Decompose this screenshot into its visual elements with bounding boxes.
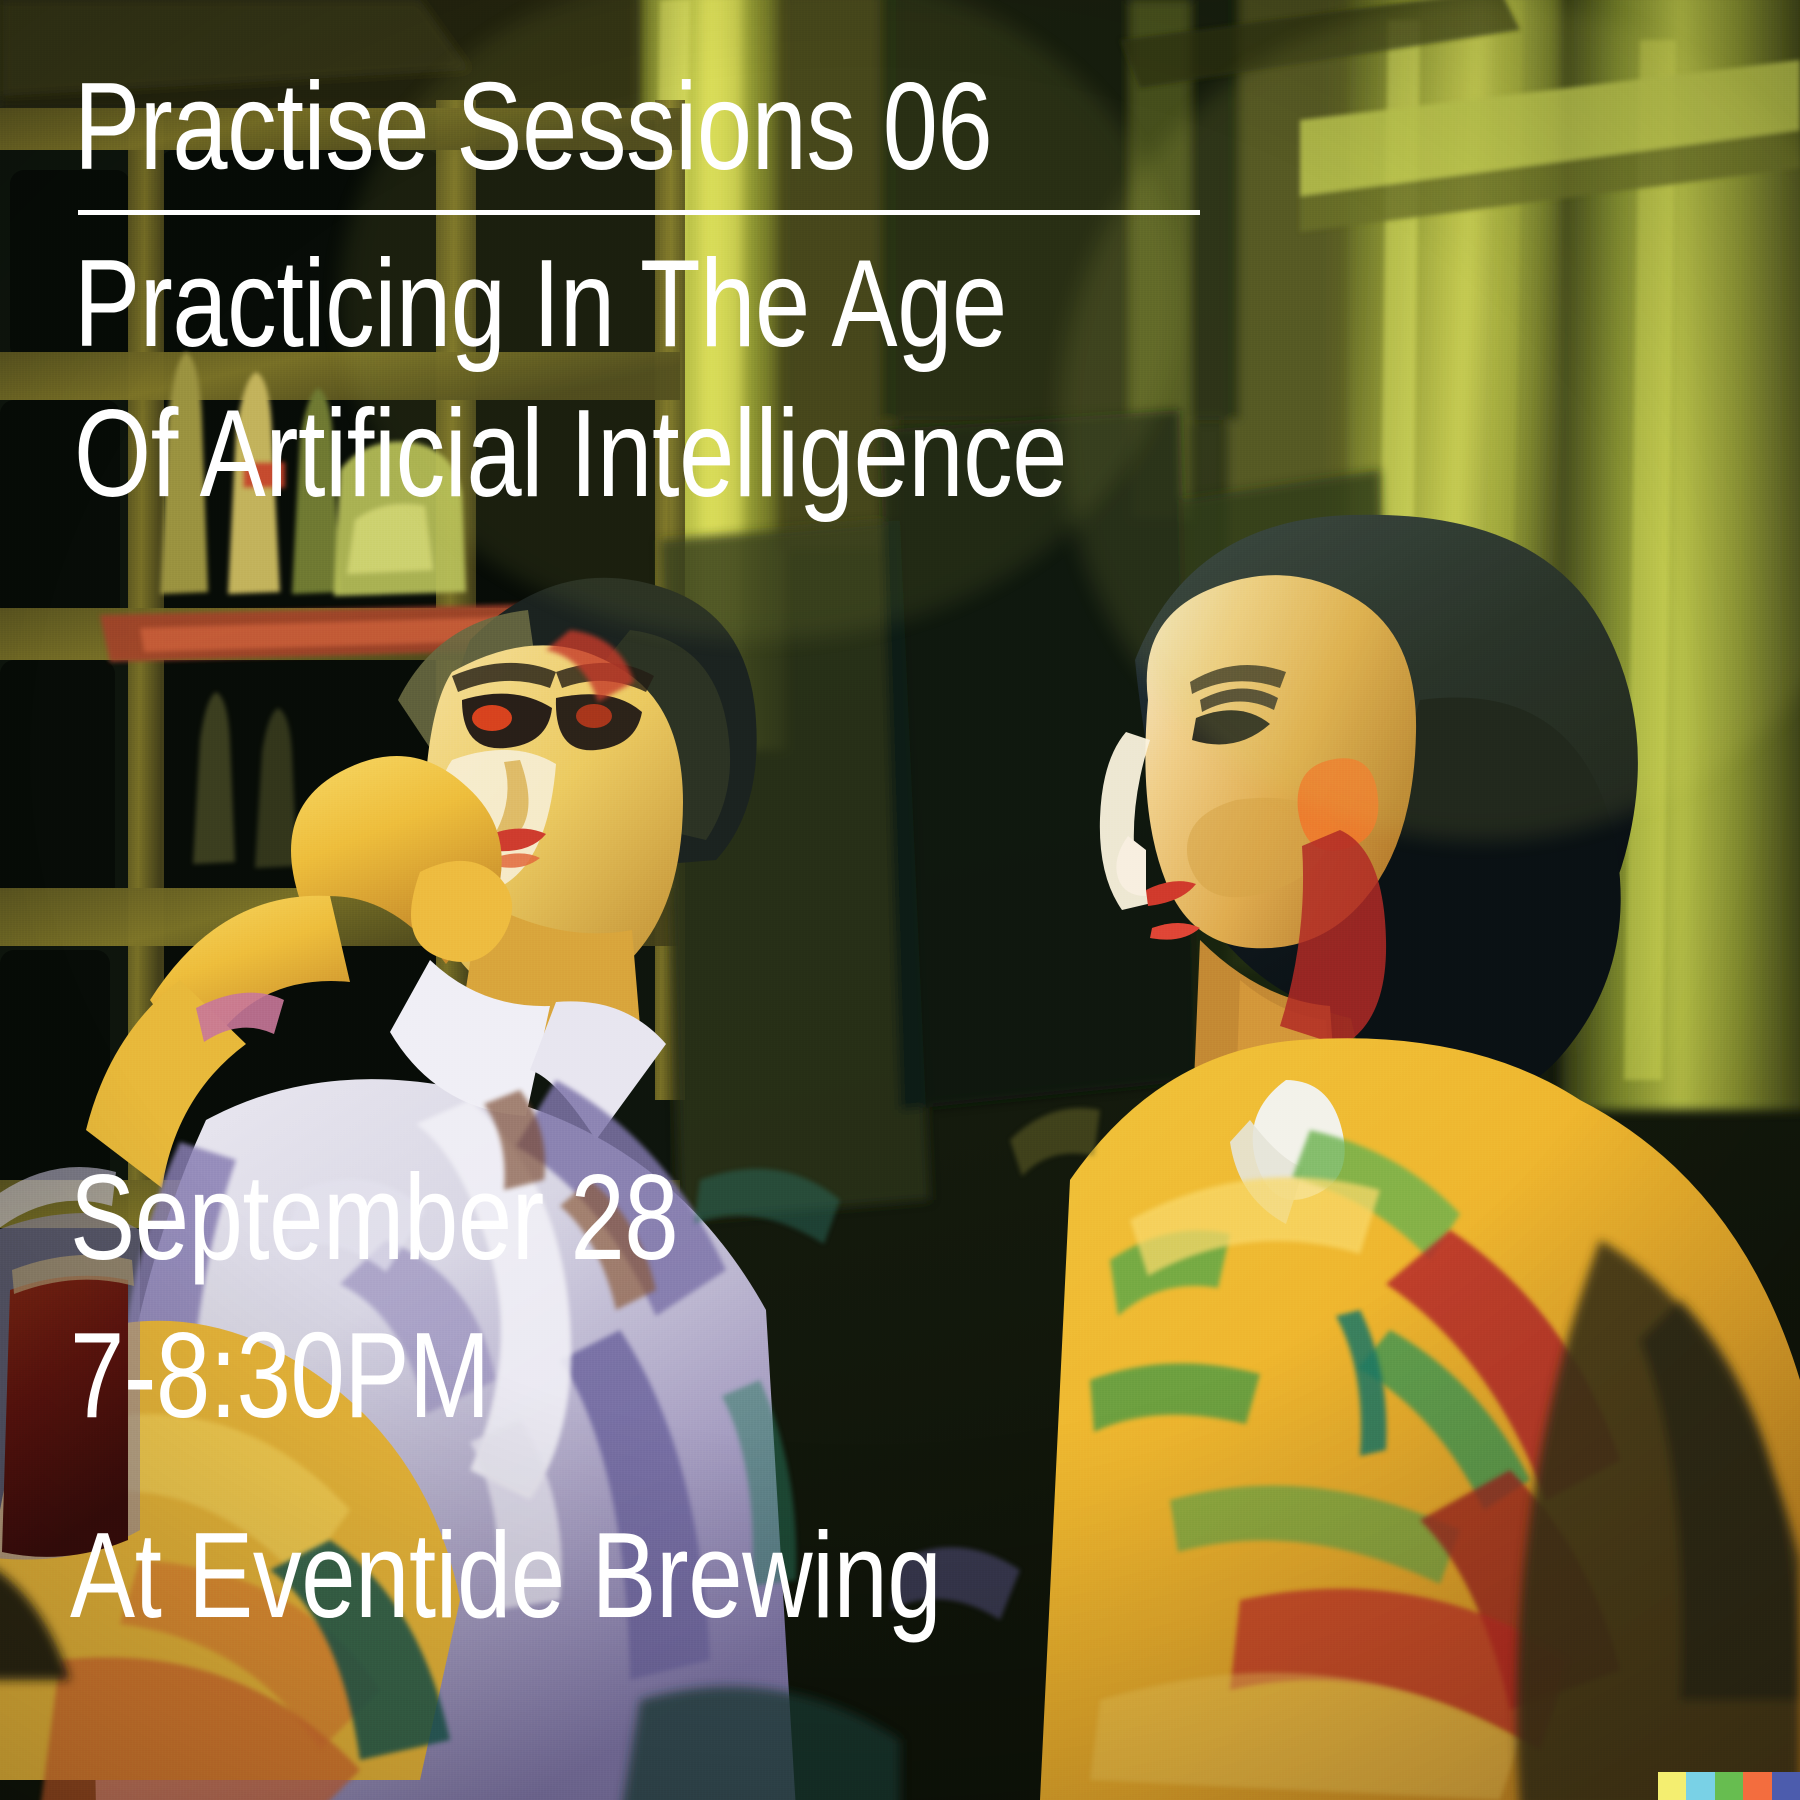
swatch-light-blue [1686, 1772, 1714, 1800]
event-time: 7-8:30PM [70, 1296, 1190, 1454]
details-spacer [70, 1454, 1470, 1496]
event-date: September 28 [70, 1138, 1190, 1296]
subtitle-line-1: Practicing In The Age [74, 229, 1210, 379]
series-title: Practise Sessions 06 [74, 56, 1210, 198]
dalle-watermark [1658, 1772, 1800, 1800]
headline-block: Practise Sessions 06 Practicing In The A… [74, 56, 1494, 529]
swatch-orange [1743, 1772, 1771, 1800]
swatch-blue [1772, 1772, 1800, 1800]
title-divider-rule [78, 210, 1200, 215]
poster-text-layer: Practise Sessions 06 Practicing In The A… [0, 0, 1800, 1800]
event-venue: At Eventide Brewing [70, 1496, 1190, 1654]
event-details-block: September 28 7-8:30PM At Eventide Brewin… [70, 1138, 1470, 1654]
swatch-green [1715, 1772, 1743, 1800]
event-poster: Practise Sessions 06 Practicing In The A… [0, 0, 1800, 1800]
subtitle-line-2: Of Artificial Intelligence [74, 379, 1210, 529]
swatch-yellow [1658, 1772, 1686, 1800]
